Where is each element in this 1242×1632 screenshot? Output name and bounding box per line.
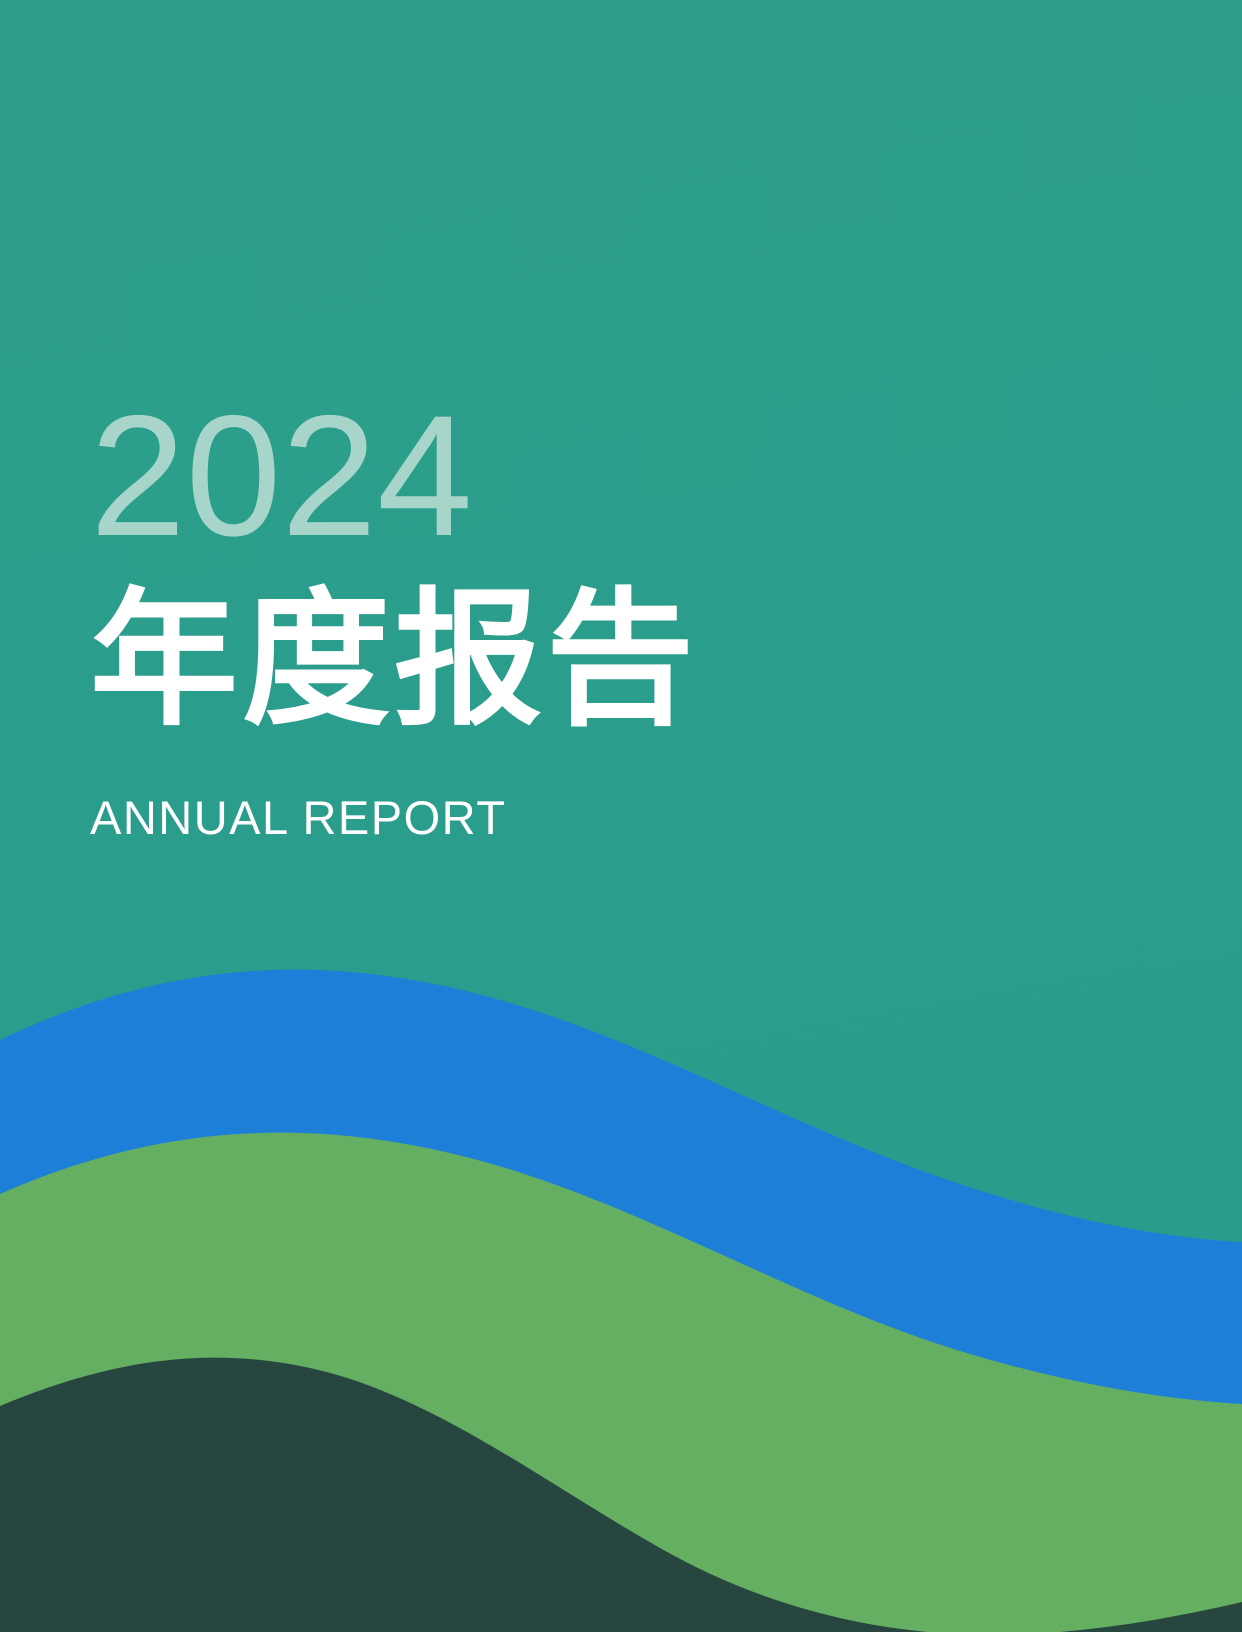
decorative-wave-graphic (0, 932, 1242, 1632)
cover-text-block: 2024 年度报告 ANNUAL REPORT (90, 392, 990, 841)
report-cover-page: 2024 年度报告 ANNUAL REPORT (0, 0, 1242, 1632)
page-year: 2024 (90, 392, 990, 538)
page-subtitle: ANNUAL REPORT (90, 794, 990, 841)
page-title: 年度报告 (90, 578, 990, 750)
